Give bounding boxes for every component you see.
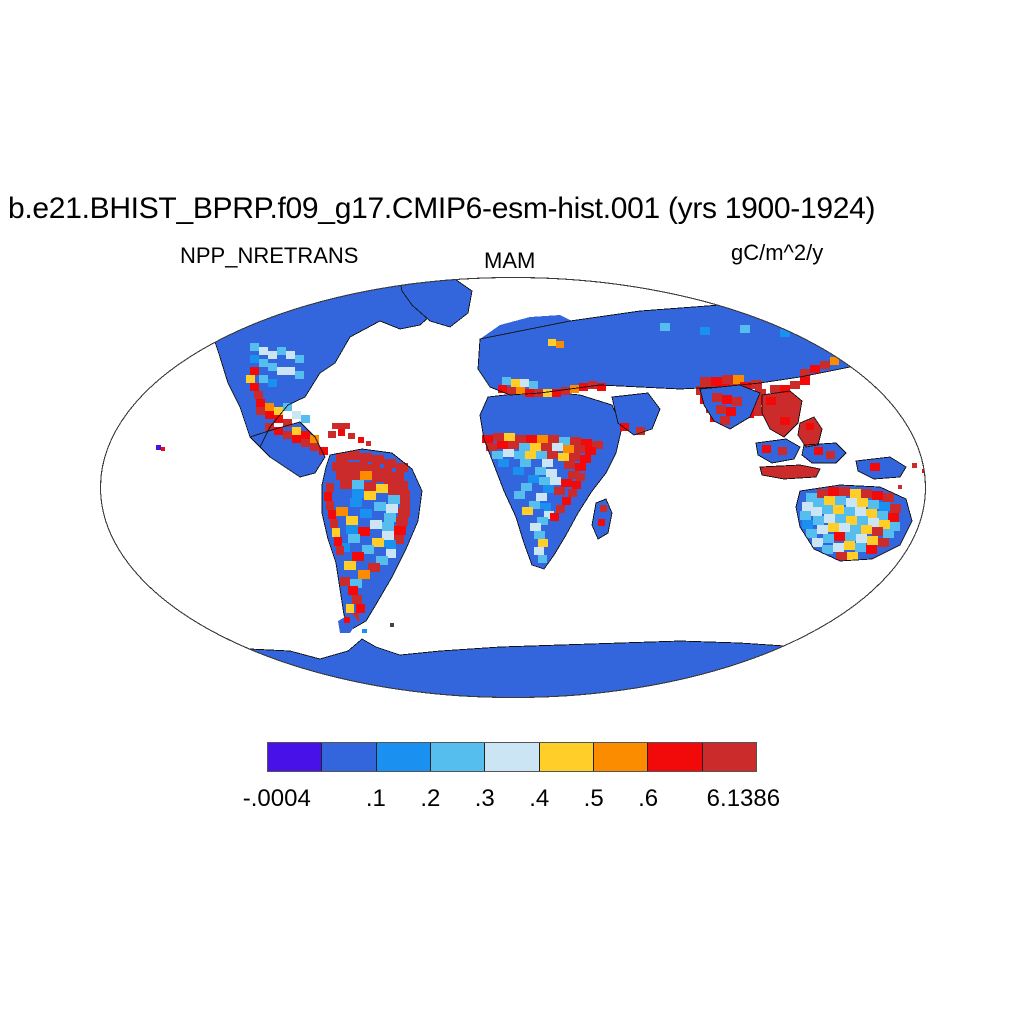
colorbar-band-1 — [268, 743, 322, 771]
colorbar-tick-label: .3 — [475, 785, 495, 813]
colorbar-tick-label: .5 — [584, 785, 604, 813]
colorbar-tick-label: -.0004 — [243, 785, 311, 813]
colorbar — [267, 742, 757, 772]
colorbar-band-9 — [703, 743, 756, 771]
units-label: gC/m^2/y — [731, 240, 823, 266]
season-label: MAM — [484, 248, 535, 274]
colorbar-band-6 — [540, 743, 594, 771]
colorbar-band-8 — [648, 743, 702, 771]
plot-title: b.e21.BHIST_BPRP.f09_g17.CMIP6-esm-hist.… — [8, 192, 875, 226]
colorbar-band-3 — [377, 743, 431, 771]
colorbar-tick-label: .2 — [420, 785, 440, 813]
colorbar-band-7 — [594, 743, 648, 771]
colorbar-tick-label: .1 — [366, 785, 386, 813]
colorbar-band-2 — [322, 743, 376, 771]
world-map — [100, 277, 926, 698]
variable-label: NPP_NRETRANS — [180, 243, 358, 269]
colorbar-tick-label: .6 — [638, 785, 658, 813]
colorbar-band-5 — [485, 743, 539, 771]
colorbar-tick-label: .4 — [529, 785, 549, 813]
colorbar-band-4 — [431, 743, 485, 771]
colorbar-ticks: -.0004.1.2.3.4.5.66.1386 — [0, 785, 1024, 815]
colorbar-tick-label: 6.1386 — [707, 785, 780, 813]
